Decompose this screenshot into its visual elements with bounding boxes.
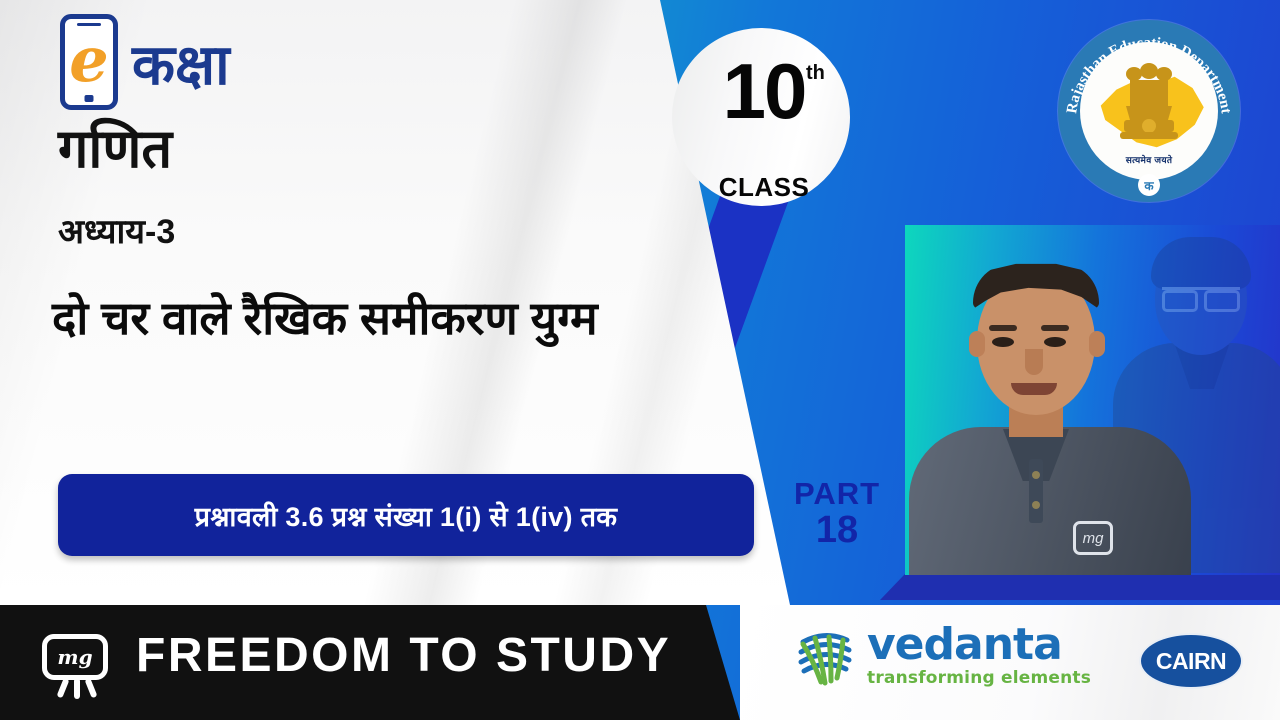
part-indicator: PART 18 [772,478,902,550]
subject-title: गणित [58,122,172,176]
exercise-banner: प्रश्नावली 3.6 प्रश्न संख्या 1(i) से 1(i… [58,474,754,556]
ashoka-emblem-icon [1116,58,1182,154]
brand-name: कक्षा [132,37,230,93]
tagline: FREEDOM TO STUDY [136,628,671,683]
rajasthan-education-department-seal: Rajasthan Education Department [1058,20,1240,202]
mg-logo-text: mg [57,647,92,667]
part-label: PART [772,478,902,511]
topic-title: दो चर वाले रैखिक समीकरण युग्म [52,288,772,349]
exercise-banner-text: प्रश्नावली 3.6 प्रश्न संख्या 1(i) से 1(i… [195,497,618,534]
instructors-photo: mg mg [905,225,1280,575]
vedanta-globe-icon [795,626,855,686]
cairn-name: CAIRN [1156,648,1226,675]
instructor-front: mg [925,263,1175,575]
mg-chest-logo-front: mg [1073,521,1113,555]
seal-bottom-badge: क [1138,174,1160,196]
vedanta-logo: vedanta transforming elements [795,624,1091,688]
vedanta-tagline: transforming elements [867,668,1091,688]
vedanta-name: vedanta [867,624,1091,666]
ekaksha-logo: e कक्षा [60,14,230,110]
cairn-logo: CAIRN [1139,633,1243,689]
part-number: 18 [772,511,902,551]
letter-e: e [69,29,108,91]
smartphone-icon: e [60,14,118,110]
seal-inner-disc: सत्यमेव जयते [1080,42,1218,180]
class-ordinal: th [806,62,825,85]
mg-board-logo: mg [40,634,112,696]
class-word: CLASS [694,174,834,200]
video-thumbnail: mg mg e कक्षा [0,0,1280,720]
seal-motto: सत्यमेव जयते [1080,153,1218,166]
chapter-label: अध्याय-3 [58,215,175,249]
